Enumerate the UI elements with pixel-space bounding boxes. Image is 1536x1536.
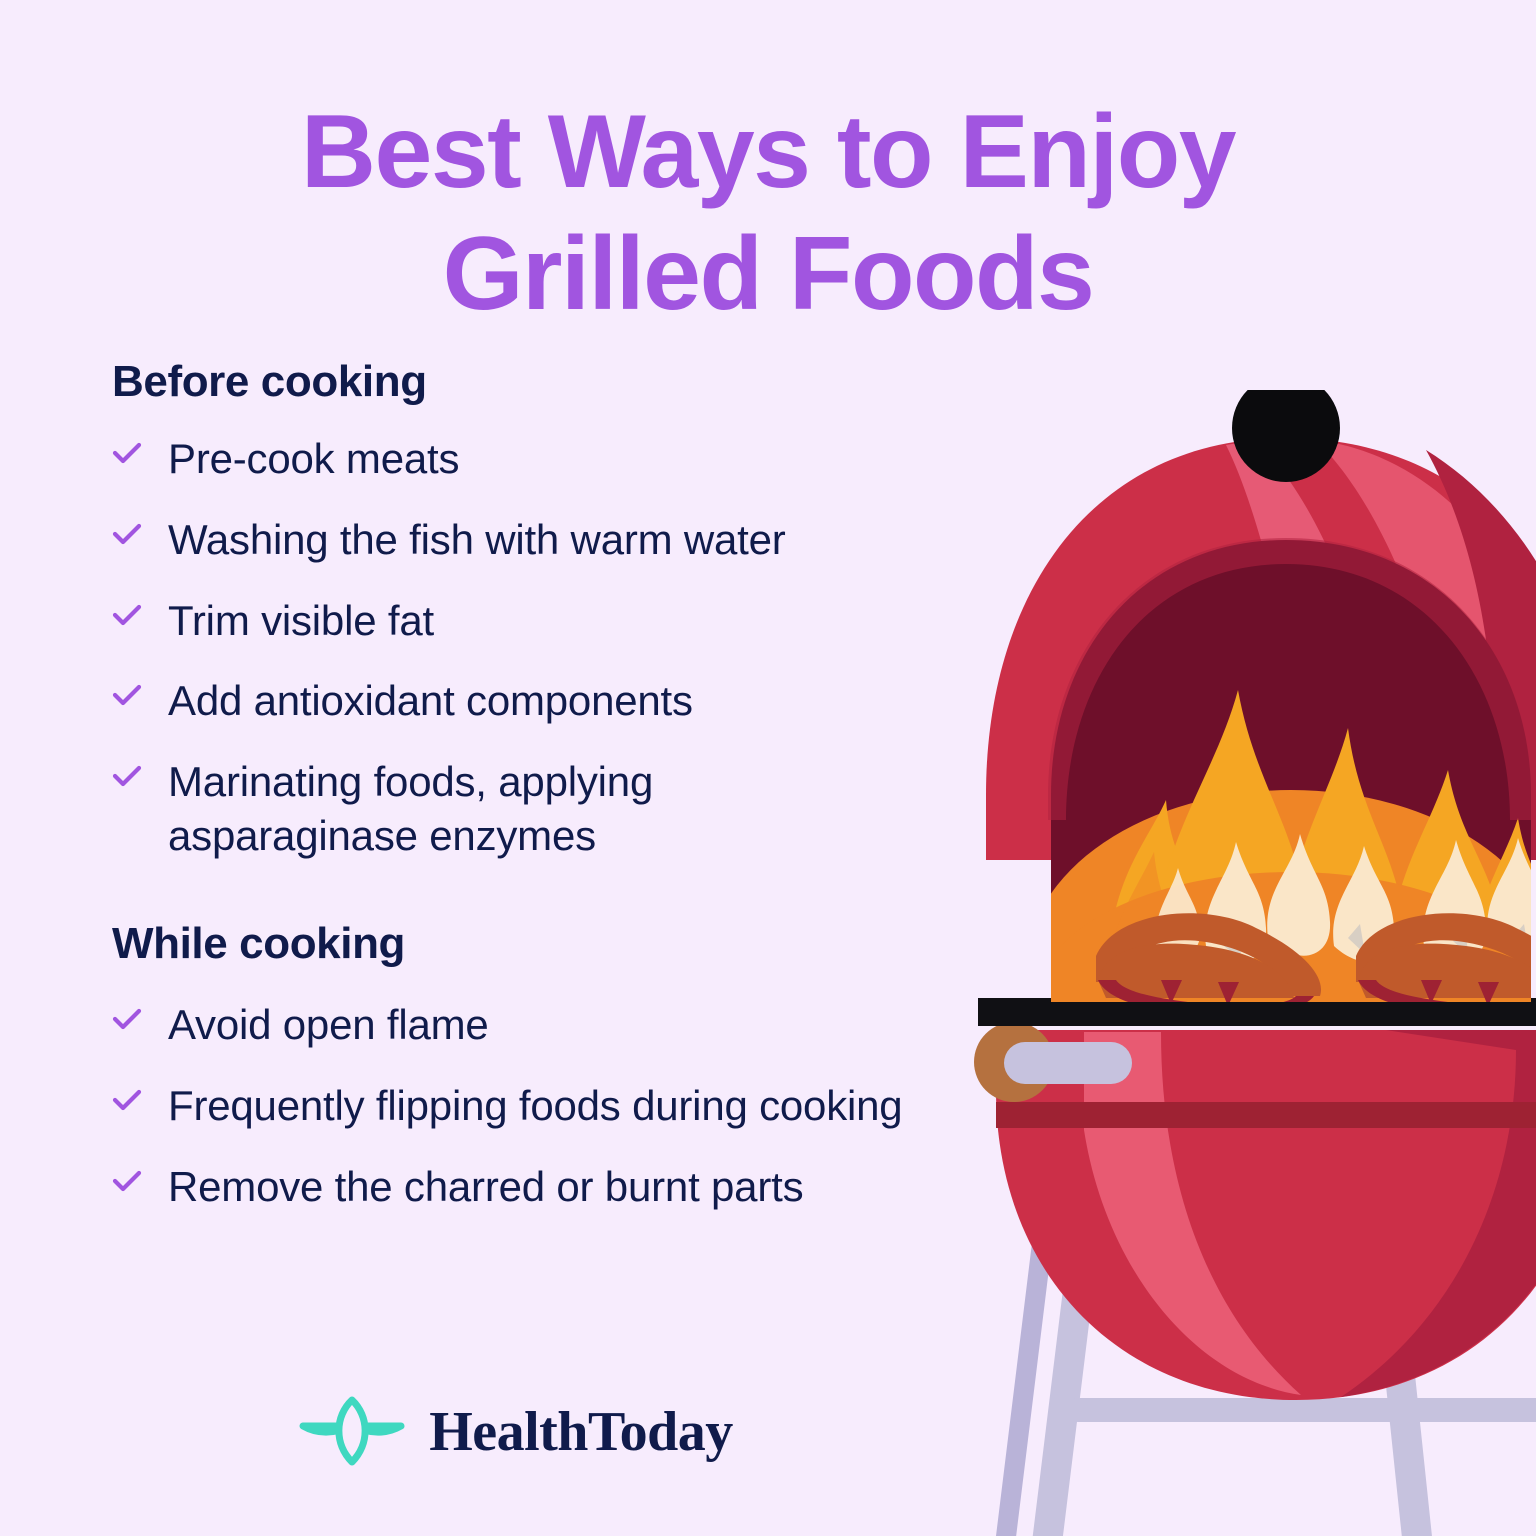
grill-legs-group: [992, 1190, 1536, 1536]
list-item: Remove the charred or burnt parts: [112, 1160, 1032, 1215]
check-icon: [112, 674, 146, 718]
list-item-label: Remove the charred or burnt parts: [168, 1160, 803, 1215]
list-item: Marinating foods, applying asparaginase …: [112, 755, 1032, 864]
list-item-label: Add antioxidant components: [168, 674, 693, 729]
section-heading-while-cooking: While cooking: [112, 920, 1032, 968]
check-icon: [112, 513, 146, 557]
list-item-label: Frequently flipping foods during cooking: [168, 1079, 902, 1134]
sausages-group: [1096, 913, 1536, 1014]
grill-bowl-group: [974, 1022, 1536, 1400]
list-item: Add antioxidant components: [112, 674, 1032, 729]
brand-logo: HealthToday: [0, 1396, 1030, 1468]
section-heading-before-cooking: Before cooking: [112, 358, 1032, 406]
list-item-label: Marinating foods, applying asparaginase …: [168, 755, 808, 864]
content-area: Before cooking Pre-cook meats: [112, 358, 1032, 1214]
grill-interior-group: [1051, 540, 1531, 1004]
grill-fire-group: [1026, 690, 1536, 1150]
charcoal-grill-illustration: [956, 390, 1536, 1536]
list-item-label: Trim visible fat: [168, 594, 434, 649]
list-item: Washing the fish with warm water: [112, 513, 1032, 568]
grill-lid-knob: [1232, 390, 1340, 482]
list-item-label: Pre-cook meats: [168, 432, 459, 487]
page-title: Best Ways to Enjoy Grilled Foods: [0, 92, 1536, 335]
poster-canvas: Best Ways to Enjoy Grilled Foods Before …: [0, 0, 1536, 1536]
check-list-before-cooking: Pre-cook meats Washing the fish with war…: [112, 432, 1032, 864]
check-icon: [112, 755, 146, 799]
list-item-label: Avoid open flame: [168, 998, 489, 1053]
grill-grate-bar: [978, 998, 1536, 1026]
check-icon: [112, 1160, 146, 1204]
section-while-cooking: While cooking Avoid open flame: [112, 920, 1032, 1214]
list-item-label: Washing the fish with warm water: [168, 513, 786, 568]
check-icon: [112, 594, 146, 638]
lotus-bowl-icon: [297, 1396, 407, 1468]
check-icon: [112, 1079, 146, 1123]
check-icon: [112, 998, 146, 1042]
title-line-2: Grilled Foods: [0, 214, 1536, 336]
list-item: Pre-cook meats: [112, 432, 1032, 487]
list-item: Frequently flipping foods during cooking: [112, 1079, 1032, 1134]
list-item: Avoid open flame: [112, 998, 1032, 1053]
check-icon: [112, 432, 146, 476]
section-before-cooking: Before cooking Pre-cook meats: [112, 358, 1032, 864]
grill-lid-group: [986, 438, 1536, 860]
brand-name: HealthToday: [429, 1404, 733, 1460]
list-item: Trim visible fat: [112, 594, 1032, 649]
title-line-1: Best Ways to Enjoy: [0, 92, 1536, 214]
check-list-while-cooking: Avoid open flame Frequently flipping foo…: [112, 998, 1032, 1214]
